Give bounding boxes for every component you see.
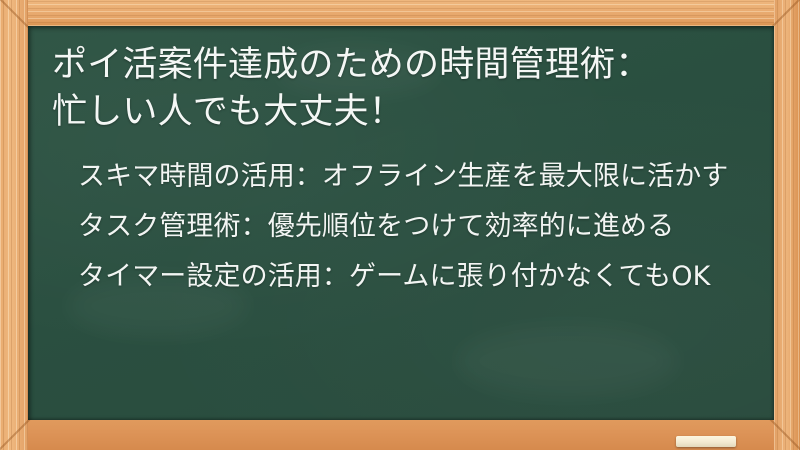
list-item: タイマー設定の活用：ゲームに張り付かなくてもOK <box>52 258 750 295</box>
frame-rail-left <box>0 0 28 450</box>
list-item: タスク管理術：優先順位をつけて効率的に進める <box>52 208 750 245</box>
chalkboard-card: ポイ活案件達成のための時間管理術： 忙しい人でも大丈夫！ スキマ時間の活用：オフ… <box>0 0 800 450</box>
chalk-stick-icon <box>676 436 736 447</box>
frame-rail-top <box>0 0 800 26</box>
frame-rail-right <box>774 0 800 450</box>
chalk-smudge <box>458 326 678 396</box>
list-item: スキマ時間の活用：オフライン生産を最大限に活かす <box>52 158 750 195</box>
chalkboard-surface: ポイ活案件達成のための時間管理術： 忙しい人でも大丈夫！ スキマ時間の活用：オフ… <box>28 26 774 420</box>
key-points-list: スキマ時間の活用：オフライン生産を最大限に活かす タスク管理術：優先順位をつけて… <box>52 158 750 296</box>
page-title: ポイ活案件達成のための時間管理術： 忙しい人でも大丈夫！ <box>52 42 750 136</box>
